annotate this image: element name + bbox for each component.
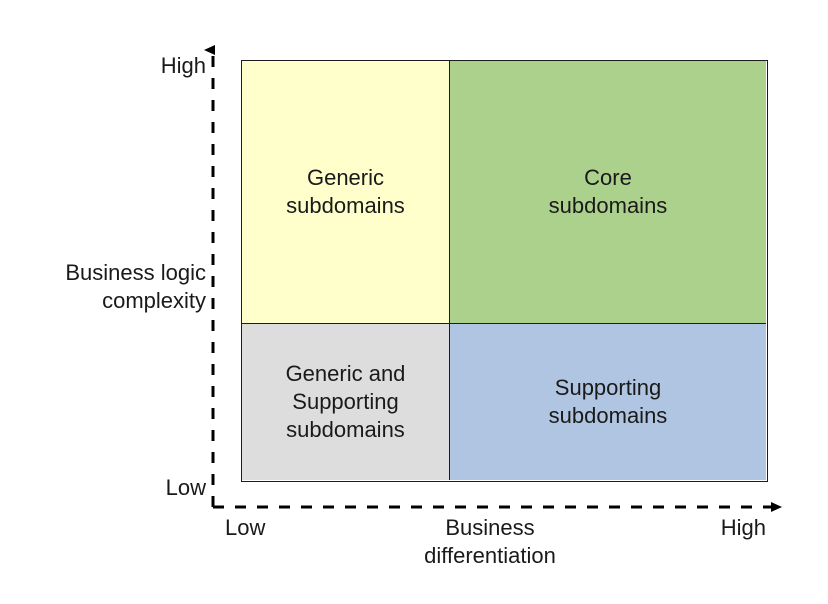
x-axis-tick-low: Low — [225, 514, 265, 542]
quadrant-generic-label: Generic subdomains — [286, 164, 405, 220]
quadrant-supporting-subdomains[interactable]: Supporting subdomains — [450, 324, 766, 480]
quadrant-core-label: Core subdomains — [549, 164, 668, 220]
y-axis-tick-low: Low — [166, 474, 206, 502]
quadrant-generic-and-supporting-subdomains[interactable]: Generic and Supporting subdomains — [242, 324, 450, 480]
subdomain-quadrant-diagram: Generic subdomains Core subdomains Gener… — [0, 0, 828, 604]
quadrant-supporting-label: Supporting subdomains — [549, 374, 668, 430]
quadrant-generic-supporting-label: Generic and Supporting subdomains — [286, 360, 406, 444]
quadrant-generic-subdomains[interactable]: Generic subdomains — [242, 61, 450, 324]
quadrant-matrix: Generic subdomains Core subdomains Gener… — [241, 60, 768, 482]
x-axis-tick-high: High — [656, 514, 766, 542]
quadrant-core-subdomains[interactable]: Core subdomains — [450, 61, 766, 324]
y-axis-tick-high: High — [161, 52, 206, 80]
x-axis-title: Business differentiation — [395, 514, 585, 570]
y-axis-title: Business logic complexity — [65, 259, 206, 315]
